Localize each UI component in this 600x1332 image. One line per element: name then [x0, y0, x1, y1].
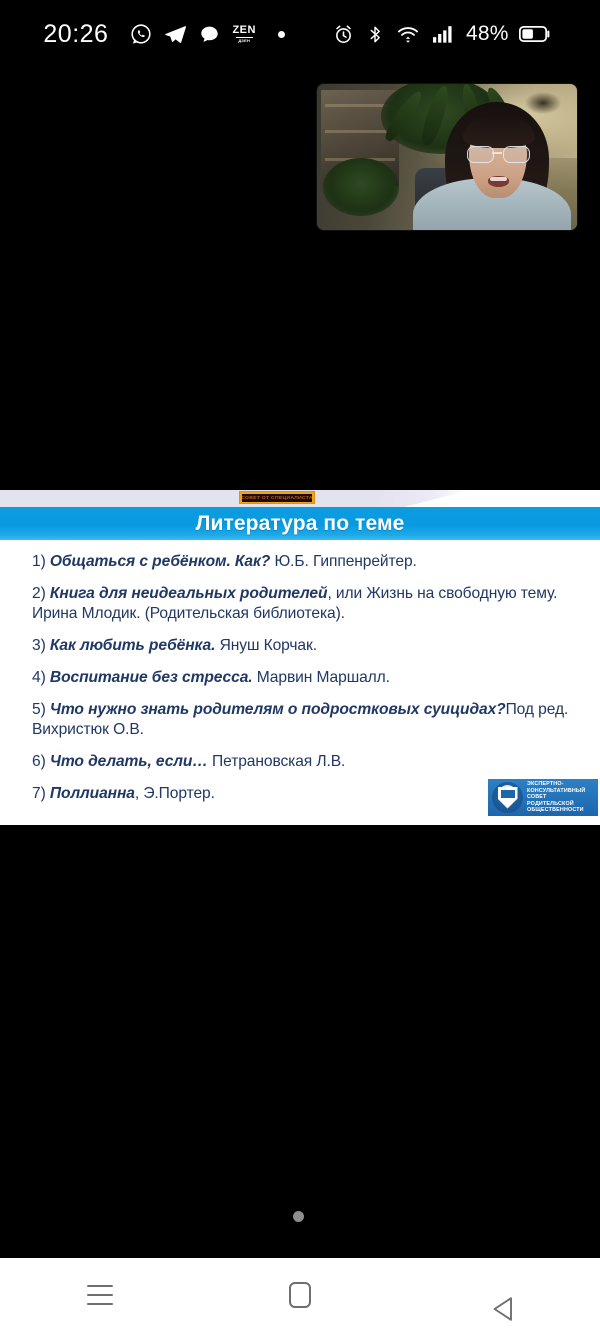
list-item-author: Ю.Б. Гиппенрейтер.	[274, 553, 416, 570]
list-item-author: Януш Корчак.	[220, 637, 317, 654]
list-item: 1) Общаться с ребёнком. Как? Ю.Б. Гиппен…	[32, 552, 578, 572]
slide-badge: СОВЕТ ОТ СПЕЦИАЛИСТА	[239, 491, 315, 504]
logo-line-5: ОБЩЕСТВЕННОСТИ	[527, 807, 585, 814]
slide-body: 1) Общаться с ребёнком. Как? Ю.Б. Гиппен…	[0, 540, 600, 816]
list-item-title: Воспитание без стресса.	[50, 669, 253, 686]
list-item-title: Книга для неидеальных родителей	[50, 585, 328, 602]
list-item: 2) Книга для неидеальных родителей, или …	[32, 584, 578, 624]
logo-line-3: СОВЕТ	[527, 794, 585, 801]
zen-icon: ZEN ДЗЕН	[232, 25, 256, 43]
list-item-title: Общаться с ребёнком. Как?	[50, 553, 270, 570]
slide-badge-inner: СОВЕТ ОТ СПЕЦИАЛИСТА	[242, 494, 312, 502]
battery-icon	[519, 24, 551, 44]
slide-title-bar: Литература по теме	[0, 507, 600, 540]
crest-icon	[492, 782, 523, 813]
list-item-number: 3)	[32, 637, 46, 654]
recents-button[interactable]	[45, 1258, 155, 1332]
background-plant	[323, 158, 399, 216]
list-item: 6) Что делать, если… Петрановская Л.В.	[32, 752, 578, 772]
signal-icon	[432, 24, 454, 44]
alarm-icon	[333, 24, 354, 45]
slide-badge-label: СОВЕТ ОТ СПЕЦИАЛИСТА	[242, 495, 312, 500]
home-icon	[289, 1282, 311, 1308]
glasses-lens-right	[503, 146, 530, 163]
list-item-number: 7)	[32, 785, 46, 802]
video-frame	[317, 84, 577, 230]
self-view-video-thumbnail[interactable]	[317, 84, 577, 230]
whatsapp-icon	[130, 23, 152, 45]
message-icon	[199, 24, 220, 45]
shield-icon	[498, 787, 518, 809]
person-glasses	[467, 146, 529, 162]
background-lamp	[525, 92, 561, 114]
list-item-author: Марвин Маршалл.	[257, 669, 390, 686]
zen-icon-sublabel: ДЗЕН	[238, 39, 250, 43]
recents-icon	[87, 1285, 113, 1305]
logo-line-2: КОНСУЛЬТАТИВНЫЙ	[527, 788, 585, 795]
system-navigation-bar	[0, 1258, 600, 1332]
wifi-icon	[396, 24, 420, 45]
status-clock: 20:26	[43, 20, 108, 49]
glasses-lens-left	[467, 146, 494, 163]
list-item-number: 5)	[32, 701, 46, 718]
list-item-title: Как любить ребёнка.	[50, 637, 215, 654]
presentation-slide[interactable]: СОВЕТ ОТ СПЕЦИАЛИСТА Литература по теме …	[0, 490, 600, 825]
list-item-title: Что делать, если…	[50, 753, 208, 770]
list-item: 3) Как любить ребёнка. Януш Корчак.	[32, 636, 578, 656]
glasses-bridge	[492, 152, 502, 154]
list-item-number: 6)	[32, 753, 46, 770]
logo-line-1: ЭКСПЕРТНО-	[527, 781, 585, 788]
content-background	[0, 825, 600, 1258]
telegram-icon	[164, 23, 187, 46]
list-item-number: 2)	[32, 585, 46, 602]
status-bar: 20:26 ZEN ДЗЕН	[0, 0, 600, 68]
organization-logo-text: ЭКСПЕРТНО- КОНСУЛЬТАТИВНЫЙ СОВЕТ РОДИТЕЛ…	[527, 781, 585, 814]
list-item-title: Поллианна	[50, 785, 135, 802]
slide-title: Литература по теме	[196, 512, 405, 536]
organization-logo: ЭКСПЕРТНО- КОНСУЛЬТАТИВНЫЙ СОВЕТ РОДИТЕЛ…	[488, 779, 598, 816]
list-item-title: Что нужно знать родителям о подростковых…	[50, 701, 506, 718]
dot-icon	[278, 31, 285, 38]
list-item-author: , Э.Портер.	[135, 785, 215, 802]
list-item-number: 4)	[32, 669, 46, 686]
back-icon	[491, 1282, 510, 1308]
bluetooth-icon	[366, 24, 384, 45]
battery-percent-label: 48%	[466, 22, 509, 46]
list-item-number: 1)	[32, 553, 46, 570]
recents-icon-line	[87, 1294, 113, 1296]
page-indicator-dot[interactable]	[293, 1211, 304, 1222]
recents-icon-line	[87, 1285, 113, 1287]
person-teeth	[490, 177, 507, 181]
back-button[interactable]	[445, 1258, 555, 1332]
home-button[interactable]	[245, 1258, 355, 1332]
list-item-author: Петрановская Л.В.	[212, 753, 345, 770]
zen-icon-label: ZEN	[232, 25, 256, 36]
person-mouth	[488, 176, 509, 187]
recents-icon-line	[87, 1303, 113, 1305]
logo-line-4: РОДИТЕЛЬСКОЙ	[527, 801, 585, 808]
list-item: 5) Что нужно знать родителям о подростко…	[32, 700, 578, 740]
list-item: 4) Воспитание без стресса. Марвин Маршал…	[32, 668, 578, 688]
